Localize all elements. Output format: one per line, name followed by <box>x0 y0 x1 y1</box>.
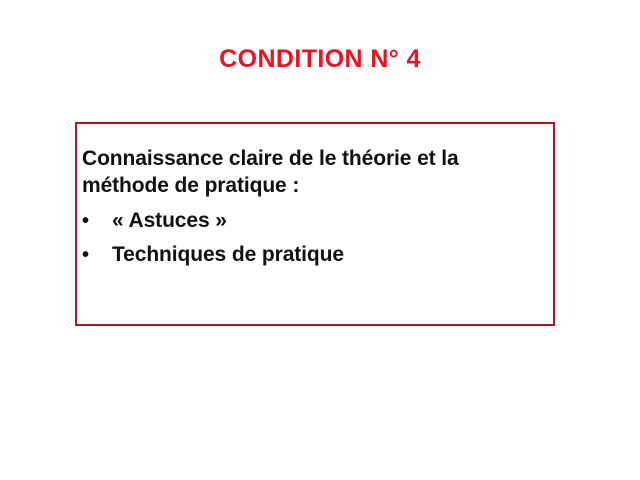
list-item-label: « Astuces » <box>112 204 549 238</box>
list-item: • « Astuces » <box>82 204 549 238</box>
bullet-dot-icon: • <box>82 238 112 272</box>
list-item-label: Techniques de pratique <box>112 238 549 272</box>
page-title: CONDITION N° 4 <box>0 44 640 74</box>
content-box-inner: Connaissance claire de le théorie et la … <box>82 145 549 272</box>
lead-paragraph: Connaissance claire de le théorie et la … <box>82 145 549 199</box>
list-item: • Techniques de pratique <box>82 238 549 272</box>
slide-canvas: CONDITION N° 4 Connaissance claire de le… <box>0 0 640 480</box>
content-box: Connaissance claire de le théorie et la … <box>75 122 555 326</box>
bullet-list: • « Astuces » • Techniques de pratique <box>82 204 549 272</box>
bullet-dot-icon: • <box>82 204 112 238</box>
